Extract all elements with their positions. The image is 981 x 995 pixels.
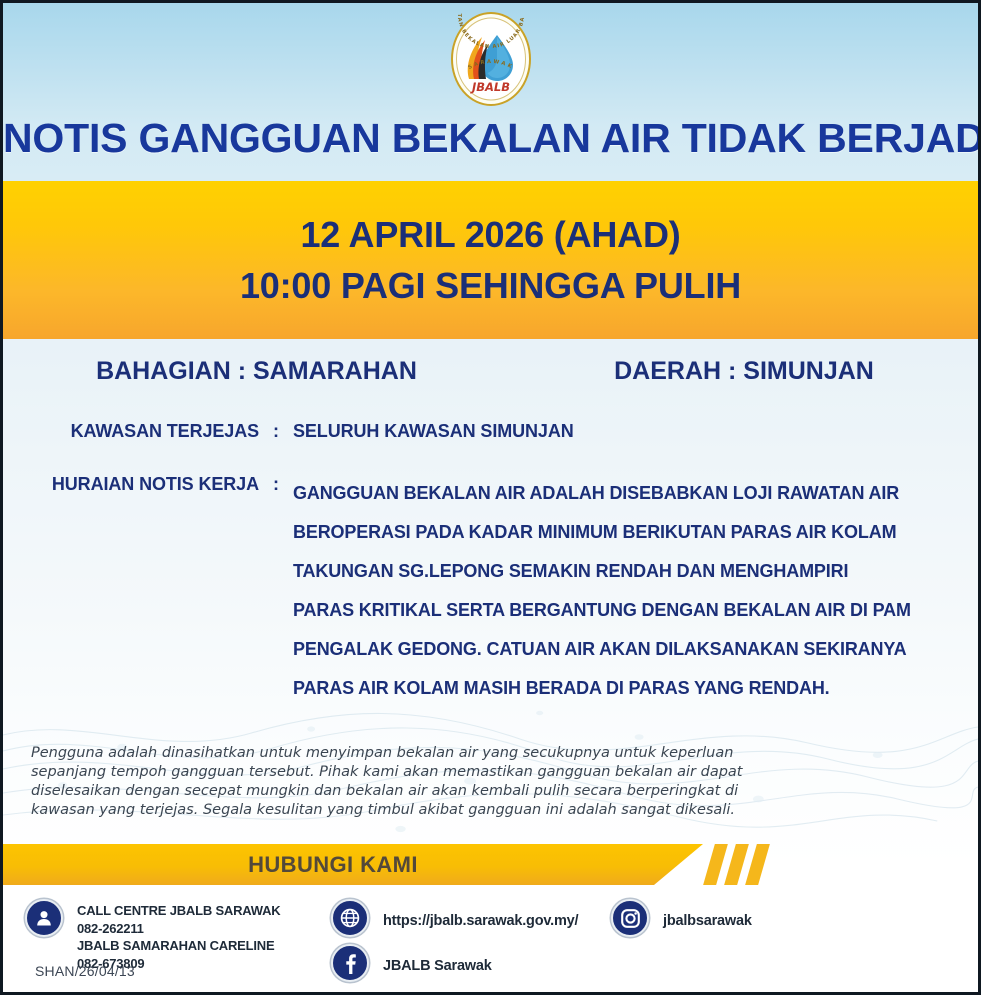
jbalb-logo-icon: JABATAN BEKALAN AIR LUAR BANDAR SARAWAK … bbox=[439, 7, 543, 111]
water-disruption-notice-poster: JABATAN BEKALAN AIR LUAR BANDAR SARAWAK … bbox=[0, 0, 981, 995]
facebook-icon-svg bbox=[339, 952, 361, 974]
globe-icon bbox=[331, 899, 369, 937]
district-label: DAERAH : SIMUNJAN bbox=[510, 357, 978, 386]
advisory-line: kawasan yang terjejas. Segala kesulitan … bbox=[31, 801, 721, 820]
contact-website[interactable]: https://jbalb.sarawak.gov.my/ bbox=[331, 899, 578, 940]
division-label: BAHAGIAN : SAMARAHAN bbox=[3, 357, 510, 386]
work-description-value: GANGGUAN BEKALAN AIR ADALAH DISEBABKAN L… bbox=[293, 474, 911, 708]
banner-stripe-icon bbox=[745, 844, 770, 885]
advisory-line: diselesaikan dengan secepat mungkin dan … bbox=[31, 782, 721, 801]
careline-name: JBALB SAMARAHAN CARELINE bbox=[77, 937, 281, 955]
contact-call-centre[interactable]: CALL CENTRE JBALB SARAWAK 082-262211 JBA… bbox=[25, 899, 281, 972]
contact-banner-title: HUBUNGI KAMI bbox=[3, 844, 663, 885]
instagram-icon bbox=[611, 899, 649, 937]
contact-call-text: CALL CENTRE JBALB SARAWAK 082-262211 JBA… bbox=[77, 899, 281, 972]
contact-banner: HUBUNGI KAMI bbox=[3, 844, 763, 885]
poster-body: BAHAGIAN : SAMARAHAN DAERAH : SIMUNJAN K… bbox=[3, 339, 978, 995]
contact-instagram-text: jbalbsarawak bbox=[663, 899, 752, 940]
date-banner: 12 APRIL 2026 (AHAD) 10:00 PAGI SEHINGGA… bbox=[3, 181, 978, 339]
website-url: https://jbalb.sarawak.gov.my/ bbox=[383, 902, 578, 940]
contact-facebook-text: JBALB Sarawak bbox=[383, 944, 492, 985]
facebook-icon bbox=[331, 944, 369, 982]
affected-area-field: KAWASAN TERJEJAS : SELURUH KAWASAN SIMUN… bbox=[45, 421, 574, 442]
work-description-line: GANGGUAN BEKALAN AIR ADALAH DISEBABKAN L… bbox=[293, 474, 911, 513]
jbalb-logo-svg: JABATAN BEKALAN AIR LUAR BANDAR SARAWAK … bbox=[439, 7, 543, 111]
person-icon bbox=[25, 899, 63, 937]
poster-header: JABATAN BEKALAN AIR LUAR BANDAR SARAWAK … bbox=[3, 3, 978, 181]
banner-stripe-icon bbox=[724, 844, 749, 885]
svg-text:JBALB: JBALB bbox=[469, 80, 509, 94]
notice-time: 10:00 PAGI SEHINGGA PULIH bbox=[240, 260, 741, 311]
work-description-line: TAKUNGAN SG.LEPONG SEMAKIN RENDAH DAN ME… bbox=[293, 552, 911, 591]
contact-instagram[interactable]: jbalbsarawak bbox=[611, 899, 752, 940]
affected-area-colon: : bbox=[259, 421, 293, 442]
work-description-colon: : bbox=[259, 474, 293, 495]
call-centre-phone: 082-262211 bbox=[77, 920, 281, 938]
advisory-line: Pengguna adalah dinasihatkan untuk menyi… bbox=[31, 744, 721, 763]
work-description-field: HURAIAN NOTIS KERJA : GANGGUAN BEKALAN A… bbox=[45, 474, 911, 708]
affected-area-label: KAWASAN TERJEJAS bbox=[45, 421, 259, 442]
call-centre-name: CALL CENTRE JBALB SARAWAK bbox=[77, 902, 281, 920]
affected-area-value: SELURUH KAWASAN SIMUNJAN bbox=[293, 421, 574, 442]
region-row: BAHAGIAN : SAMARAHAN DAERAH : SIMUNJAN bbox=[3, 357, 978, 386]
notice-date: 12 APRIL 2026 (AHAD) bbox=[300, 209, 680, 260]
instagram-icon-svg bbox=[620, 908, 641, 929]
work-description-line: PENGALAK GEDONG. CATUAN AIR AKAN DILAKSA… bbox=[293, 630, 911, 669]
person-icon-svg bbox=[34, 908, 54, 928]
banner-stripe-icon bbox=[703, 844, 728, 885]
work-description-line: PARAS AIR KOLAM MASIH BERADA DI PARAS YA… bbox=[293, 669, 911, 708]
page-title: NOTIS GANGGUAN BEKALAN AIR TIDAK BERJADU… bbox=[3, 115, 978, 162]
facebook-handle: JBALB Sarawak bbox=[383, 947, 492, 985]
globe-icon-svg bbox=[339, 907, 361, 929]
work-description-line: PARAS KRITIKAL SERTA BERGANTUNG DENGAN B… bbox=[293, 591, 911, 630]
contact-facebook[interactable]: JBALB Sarawak bbox=[331, 944, 492, 985]
contact-website-text: https://jbalb.sarawak.gov.my/ bbox=[383, 899, 578, 940]
reference-code: SHAN/26/04/13 bbox=[35, 963, 135, 979]
advisory-line: sepanjang tempoh gangguan tersebut. Piha… bbox=[31, 763, 721, 782]
work-description-line: BEROPERASI PADA KADAR MINIMUM BERIKUTAN … bbox=[293, 513, 911, 552]
advisory-note: Pengguna adalah dinasihatkan untuk menyi… bbox=[31, 744, 721, 820]
work-description-label: HURAIAN NOTIS KERJA bbox=[45, 474, 259, 495]
instagram-handle: jbalbsarawak bbox=[663, 902, 752, 940]
